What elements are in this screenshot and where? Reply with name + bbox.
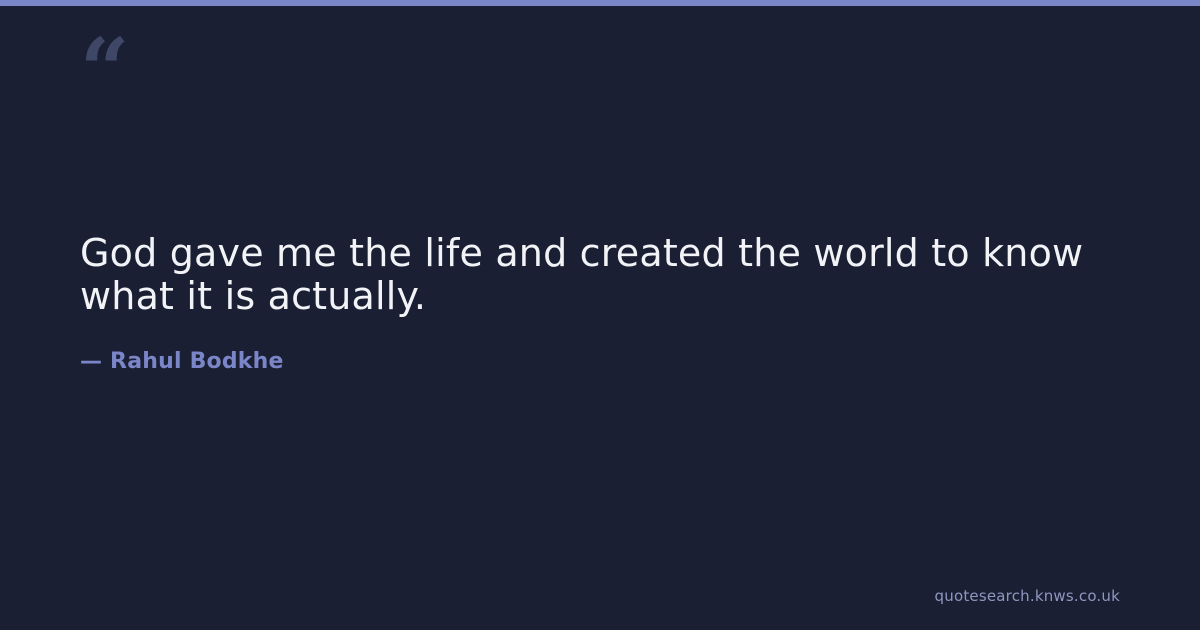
- top-accent-bar: [0, 0, 1200, 6]
- quote-card: “ God gave me the life and created the w…: [0, 0, 1200, 630]
- quote-text: God gave me the life and created the wor…: [80, 232, 1110, 317]
- quote-attribution: — Rahul Bodkhe: [80, 317, 1110, 374]
- quote-body: God gave me the life and created the wor…: [80, 232, 1110, 374]
- source-watermark: quotesearch.knws.co.uk: [935, 587, 1120, 605]
- quotation-mark-icon: “: [80, 28, 127, 114]
